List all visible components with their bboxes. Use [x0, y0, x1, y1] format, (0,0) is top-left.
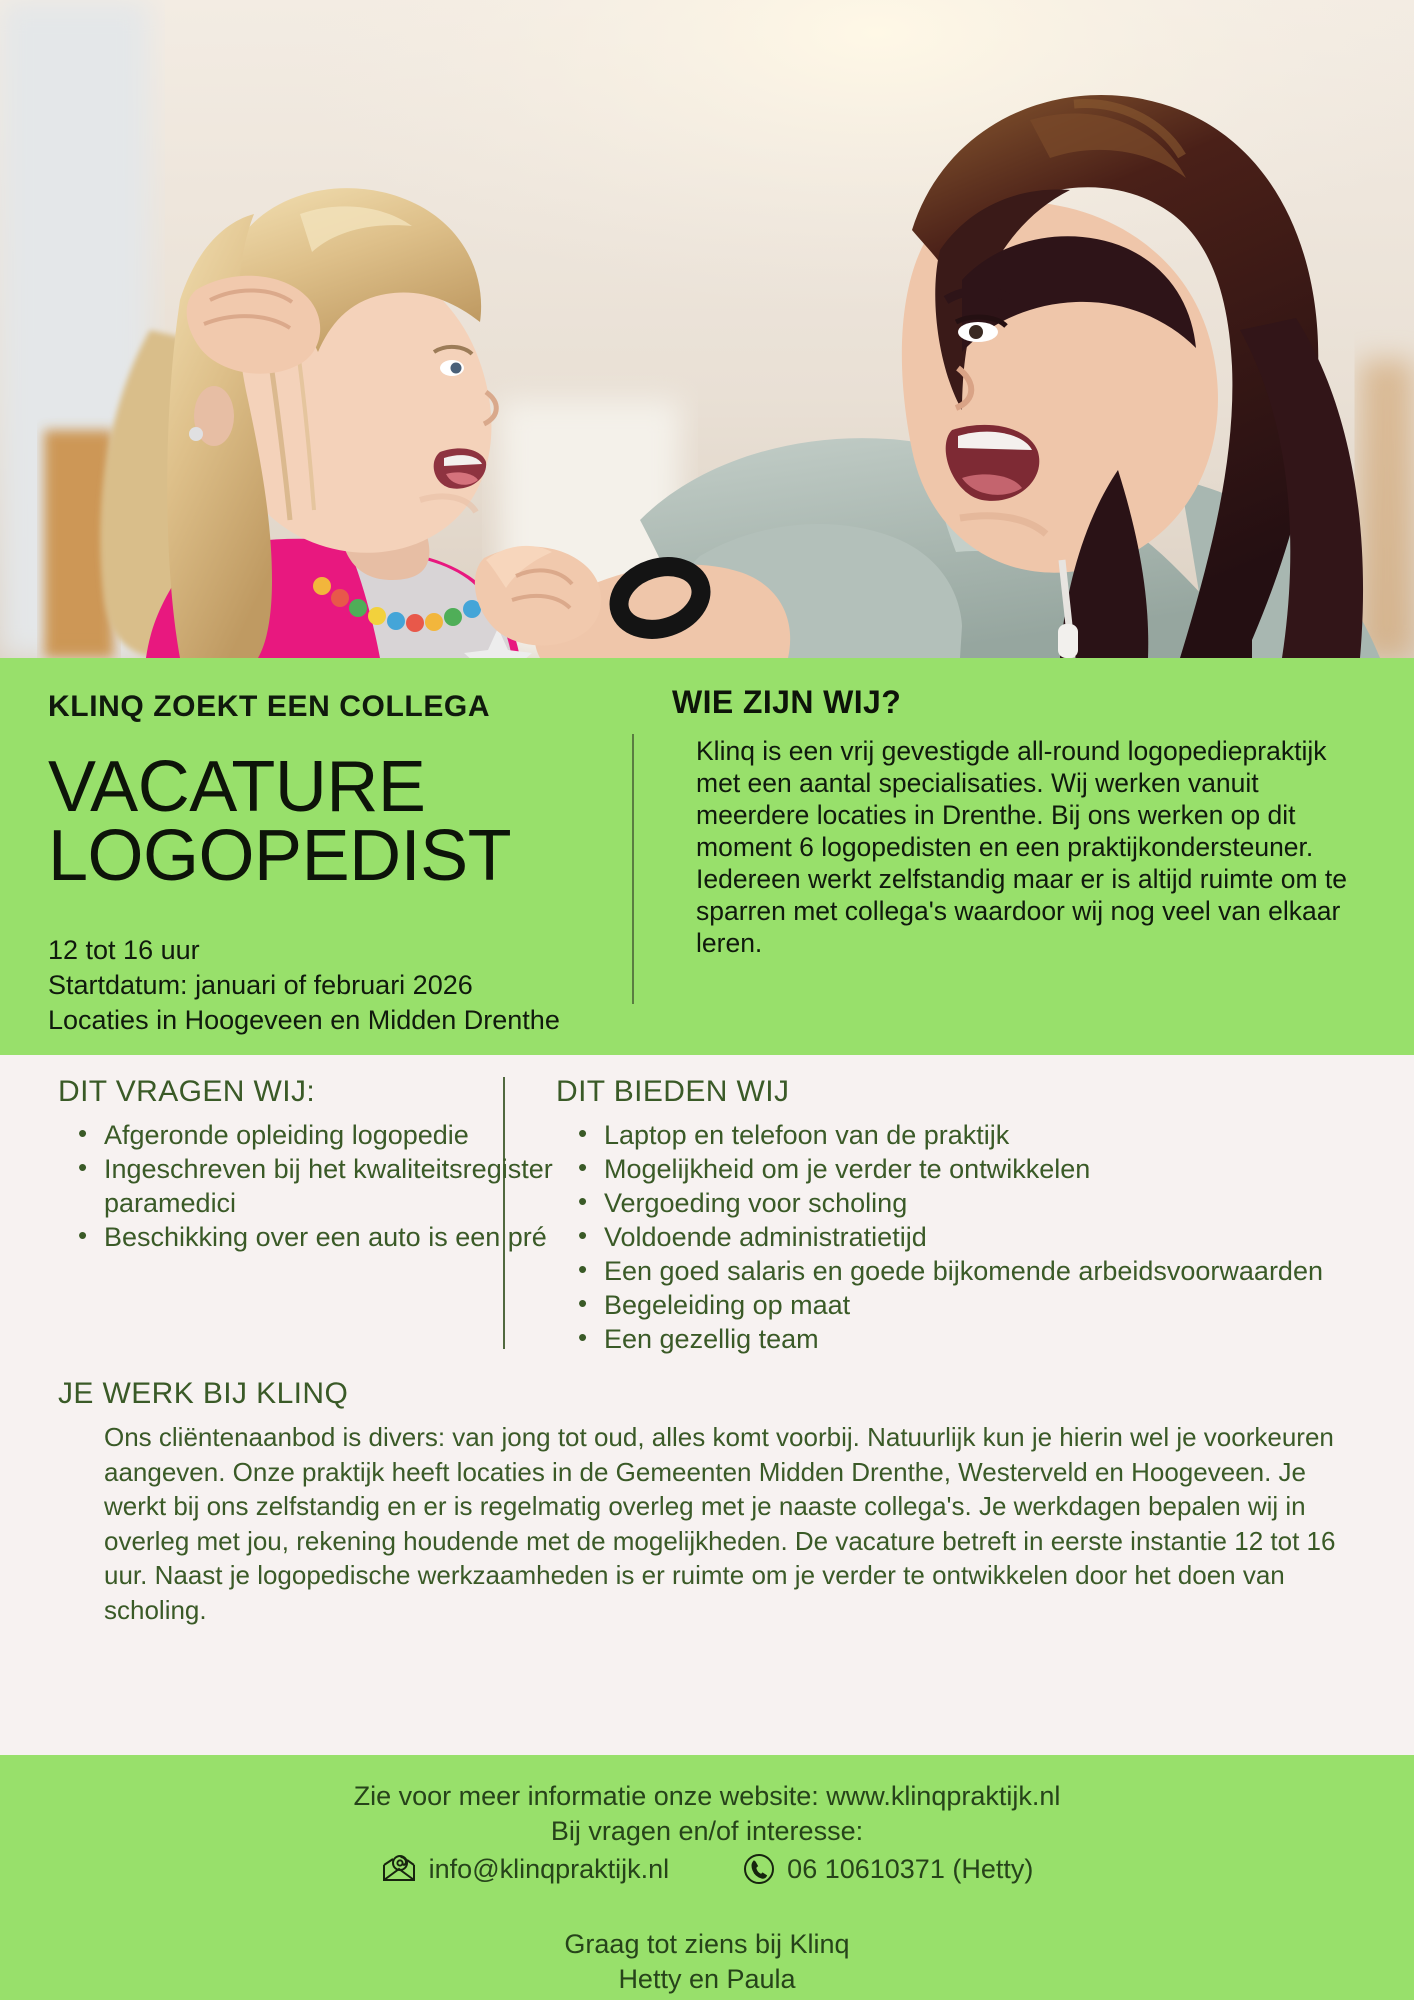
phone-number: 06 10610371 (Hetty)	[787, 1854, 1033, 1885]
page-title: VACATURE LOGOPEDIST	[48, 753, 608, 891]
details-section: DIT VRAGEN WIJ: Afgeronde opleiding logo…	[0, 1055, 1414, 1755]
eyebrow-text: KLINQ ZOEKT EEN COLLEGA	[48, 690, 608, 723]
closing-line-2: Hetty en Paula	[564, 1962, 849, 1997]
requirements-block: DIT VRAGEN WIJ: Afgeronde opleiding logo…	[58, 1075, 558, 1254]
closing-line-1: Graag tot ziens bij Klinq	[564, 1927, 849, 1962]
list-item: Vergoeding voor scholing	[556, 1186, 1396, 1220]
meta-locations: Locaties in Hoogeveen en Midden Drenthe	[48, 1003, 608, 1038]
photo-illustration	[0, 0, 1414, 658]
contact-footer: Zie voor meer informatie onze website: w…	[0, 1755, 1414, 2000]
meta-startdate: Startdatum: januari of februari 2026	[48, 968, 608, 1003]
meta-hours: 12 tot 16 uur	[48, 933, 608, 968]
about-us-heading: WIE ZIJN WIJ?	[672, 684, 1372, 721]
contact-row: info@klinqpraktijk.nl 06 10610371 (Hetty…	[381, 1853, 1034, 1885]
contact-intro: Bij vragen en/of interesse:	[551, 1814, 863, 1849]
email-address: info@klinqpraktijk.nl	[429, 1854, 670, 1885]
email-icon	[381, 1855, 417, 1883]
closing-block: Graag tot ziens bij Klinq Hetty en Paula	[564, 1927, 849, 1997]
title-line-2: LOGOPEDIST	[48, 822, 608, 891]
about-us-block: WIE ZIJN WIJ? Klinq is een vrij gevestig…	[672, 684, 1372, 959]
website-line: Zie voor meer informatie onze website: w…	[354, 1779, 1061, 1814]
list-item: Een gezellig team	[556, 1322, 1396, 1356]
hero-photo	[0, 0, 1414, 658]
list-item: Laptop en telefoon van de praktijk	[556, 1118, 1396, 1152]
benefits-heading: DIT BIEDEN WIJ	[556, 1075, 1396, 1108]
list-item: Ingeschreven bij het kwaliteitsregister …	[58, 1152, 558, 1220]
email-contact[interactable]: info@klinqpraktijk.nl	[381, 1854, 670, 1885]
your-work-heading: JE WERK BIJ KLINQ	[58, 1377, 1358, 1410]
title-line-1: VACATURE	[48, 747, 425, 827]
list-item: Een goed salaris en goede bijkomende arb…	[556, 1254, 1396, 1288]
benefits-block: DIT BIEDEN WIJ Laptop en telefoon van de…	[556, 1075, 1396, 1356]
requirements-heading: DIT VRAGEN WIJ:	[58, 1075, 558, 1108]
hero-band: KLINQ ZOEKT EEN COLLEGA VACATURE LOGOPED…	[0, 658, 1414, 1055]
list-item: Beschikking over een auto is een pré	[58, 1220, 558, 1254]
your-work-text: Ons cliëntenaanbod is divers: van jong t…	[104, 1420, 1354, 1627]
list-item: Voldoende administratietijd	[556, 1220, 1396, 1254]
benefits-list: Laptop en telefoon van de praktijk Mogel…	[556, 1118, 1396, 1356]
list-item: Afgeronde opleiding logopedie	[58, 1118, 558, 1152]
hero-vertical-divider	[632, 734, 634, 1004]
your-work-block: JE WERK BIJ KLINQ Ons cliëntenaanbod is …	[58, 1377, 1358, 1627]
hero-left-column: KLINQ ZOEKT EEN COLLEGA VACATURE LOGOPED…	[48, 690, 608, 1039]
vacancy-poster: KLINQ ZOEKT EEN COLLEGA VACATURE LOGOPED…	[0, 0, 1414, 2000]
list-item: Begeleiding op maat	[556, 1288, 1396, 1322]
job-meta: 12 tot 16 uur Startdatum: januari of feb…	[48, 933, 608, 1038]
list-item: Mogelijkheid om je verder te ontwikkelen	[556, 1152, 1396, 1186]
phone-contact[interactable]: 06 10610371 (Hetty)	[743, 1853, 1033, 1885]
phone-icon	[743, 1853, 775, 1885]
requirements-list: Afgeronde opleiding logopedie Ingeschrev…	[58, 1118, 558, 1254]
about-us-text: Klinq is een vrij gevestigde all-round l…	[696, 735, 1372, 959]
